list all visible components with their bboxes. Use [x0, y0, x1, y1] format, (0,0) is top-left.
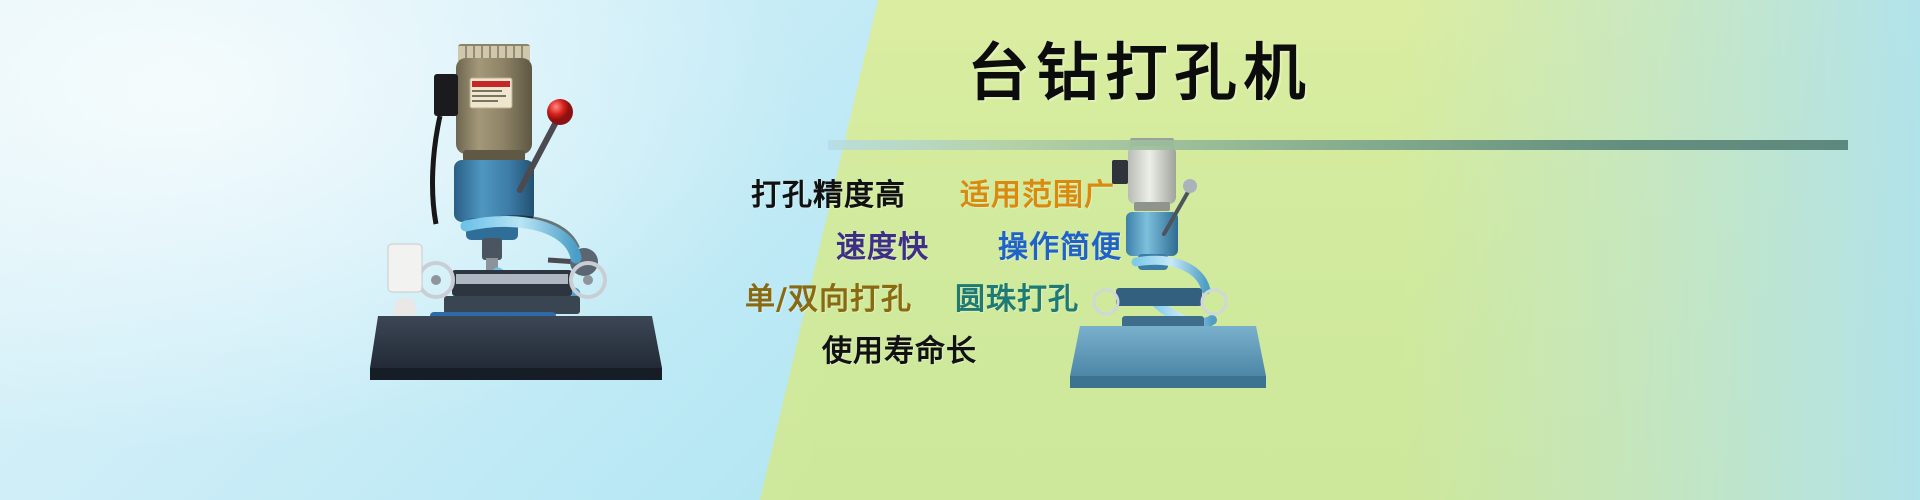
left-product-image	[370, 12, 670, 382]
feature-row: 打孔精度高 适用范围广	[760, 170, 1400, 222]
page-title: 台钻打孔机	[930, 42, 1350, 104]
feature-row: 速度快 操作简便	[760, 222, 1400, 274]
feature-list: 打孔精度高 适用范围广 速度快 操作简便 单/双向打孔 圆珠打孔 使用寿命长	[760, 170, 1400, 400]
feature-row: 使用寿命长	[760, 326, 1400, 378]
feature-item: 操作简便	[998, 222, 1122, 266]
title-divider	[828, 140, 1848, 150]
feature-item: 打孔精度高	[751, 170, 906, 214]
feature-row: 单/双向打孔 圆珠打孔	[760, 274, 1400, 326]
feature-item: 速度快	[836, 222, 929, 266]
feature-item: 适用范围广	[960, 170, 1115, 214]
feature-item: 圆珠打孔	[955, 274, 1079, 318]
feature-item: 单/双向打孔	[745, 274, 912, 318]
product-banner: 台钻打孔机 打孔精度高 适用范围广 速度快 操作简便 单/双向打孔 圆珠打孔 使…	[0, 0, 1920, 500]
feature-item: 使用寿命长	[822, 326, 977, 370]
